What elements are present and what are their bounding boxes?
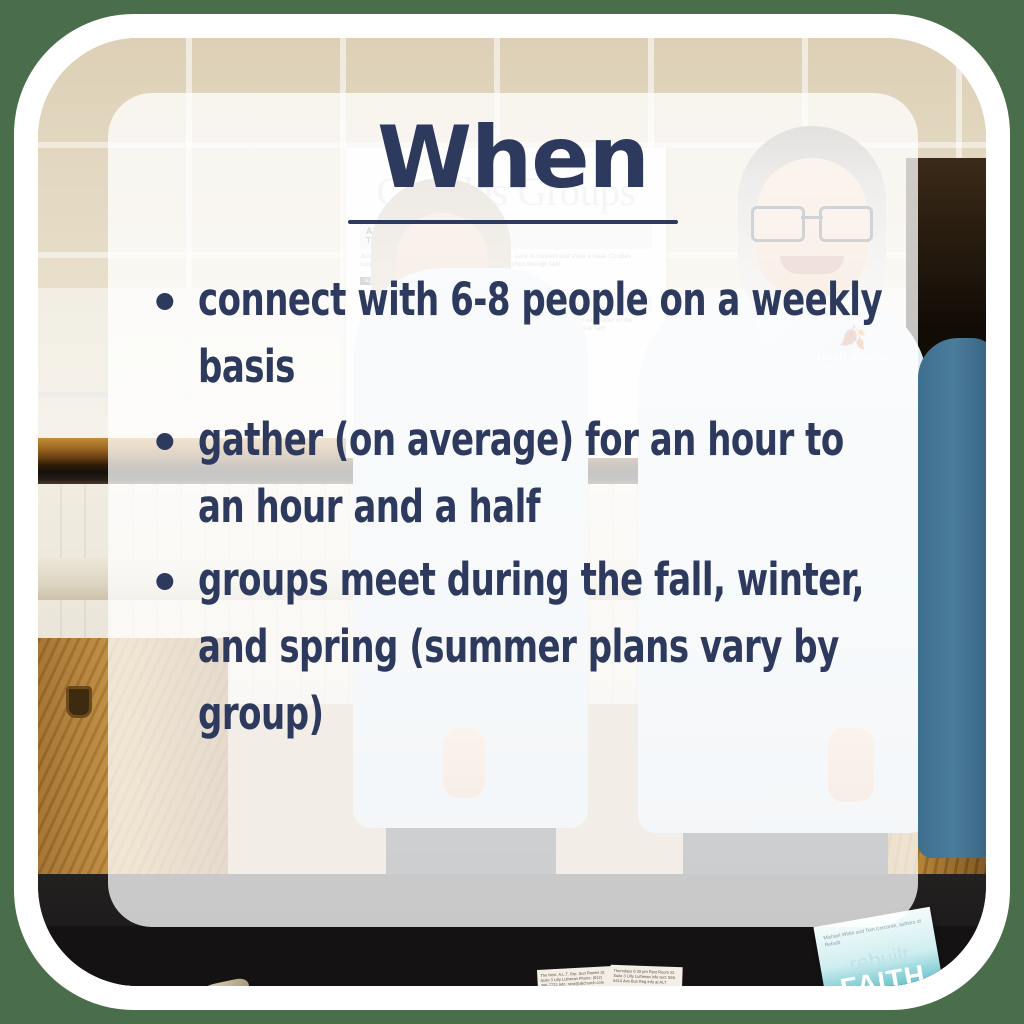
- bullet-list: connect with 6-8 people on a weekly basi…: [108, 266, 918, 747]
- slide-canvas: Couples Groups ALT - COUPLES Thursdays a…: [0, 0, 1024, 1024]
- list-item: groups meet during the fall, winter, and…: [198, 546, 900, 747]
- bullet-dot-icon: [156, 573, 173, 590]
- list-item: connect with 6-8 people on a weekly basi…: [198, 266, 900, 400]
- list-item-text: gather (on average) for an hour to an ho…: [198, 413, 844, 533]
- title-underline-rule: [348, 220, 678, 224]
- list-item: gather (on average) for an hour to an ho…: [198, 406, 900, 540]
- list-item-text: connect with 6-8 people on a weekly basi…: [198, 273, 882, 393]
- list-item-text: groups meet during the fall, winter, and…: [198, 553, 864, 740]
- slide-content: When connect with 6-8 people on a weekly…: [108, 93, 918, 927]
- bullet-dot-icon: [156, 433, 173, 450]
- counter-card-b: Thursdays 6:30 pm Rest Room St. Suite 3 …: [609, 965, 682, 986]
- bullet-dot-icon: [156, 293, 173, 310]
- counter-card-a: The Nest, A.L.T. Grp. Sun Rowen St. Suit…: [537, 966, 615, 986]
- blue-shirt-sleeve: [918, 338, 986, 858]
- page-title: When: [108, 110, 918, 206]
- cabinet-handle: [66, 686, 92, 718]
